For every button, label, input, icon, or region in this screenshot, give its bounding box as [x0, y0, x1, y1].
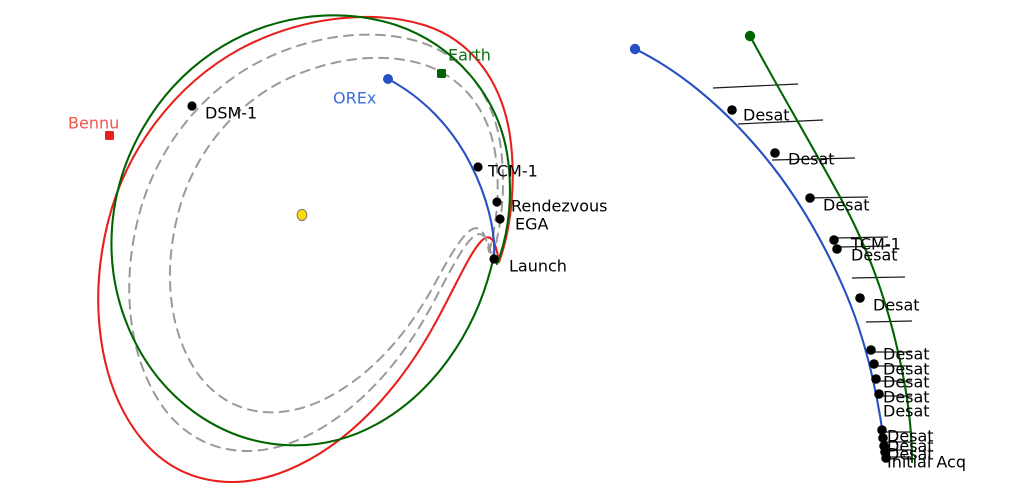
event-marker-desat-4 — [829, 235, 839, 245]
event-marker-desat-7 — [869, 359, 879, 369]
orex-start-marker — [630, 44, 640, 54]
label-bennu: Bennu — [68, 114, 119, 133]
label-ega: EGA — [515, 215, 549, 234]
earth-start-marker — [745, 31, 755, 41]
label-orex: OREx — [333, 89, 376, 108]
event-marker-rendezvous — [492, 197, 501, 206]
label-desat-3: Desat — [823, 196, 870, 215]
event-marker-desat-1 — [727, 105, 737, 115]
label-tcm-1: TCM-1 — [487, 162, 538, 181]
ega-flyby-detail-panel: Desat Desat Desat TCM-1 Desat Desat Desa… — [620, 0, 1024, 502]
label-rendezvous: Rendezvous — [511, 197, 608, 216]
tie-line-desat-1 — [713, 84, 798, 88]
label-desat-2: Desat — [788, 150, 835, 169]
label-desat-4: Desat — [851, 246, 898, 265]
event-marker-desat-3 — [805, 193, 815, 203]
dashed-orbit-outer — [129, 35, 503, 451]
earth-orbit-path — [111, 15, 509, 445]
heliocentric-orbit-panel: Bennu Earth OREx DSM-1 TCM-1 Rendezvous … — [0, 0, 620, 502]
label-desat-10: Desat — [883, 402, 930, 421]
earth-marker — [437, 69, 446, 78]
event-marker-tcm-1 — [832, 244, 842, 254]
tie-line-desat-7 — [866, 321, 912, 322]
label-dsm-1: DSM-1 — [205, 104, 257, 123]
bennu-orbit-path — [98, 17, 512, 482]
orex-marker — [383, 74, 393, 84]
label-initial-acq: Initial Acq — [887, 453, 966, 472]
event-marker-ega — [495, 214, 504, 223]
label-desat-5: Desat — [873, 296, 920, 315]
tie-line-desat-6 — [852, 277, 905, 278]
label-earth: Earth — [448, 46, 491, 65]
event-marker-desat-2 — [770, 148, 780, 158]
event-marker-dsm-1 — [187, 101, 196, 110]
label-desat-1: Desat — [743, 106, 790, 125]
label-launch: Launch — [509, 257, 567, 276]
event-marker-desat-8 — [871, 374, 881, 384]
event-marker-desat-6 — [866, 345, 876, 355]
event-marker-launch — [489, 254, 498, 263]
event-marker-desat-5 — [855, 293, 865, 303]
trajectory-figure: Bennu Earth OREx DSM-1 TCM-1 Rendezvous … — [0, 0, 1024, 502]
sun-marker — [297, 209, 307, 220]
event-marker-tcm-1 — [473, 162, 482, 171]
